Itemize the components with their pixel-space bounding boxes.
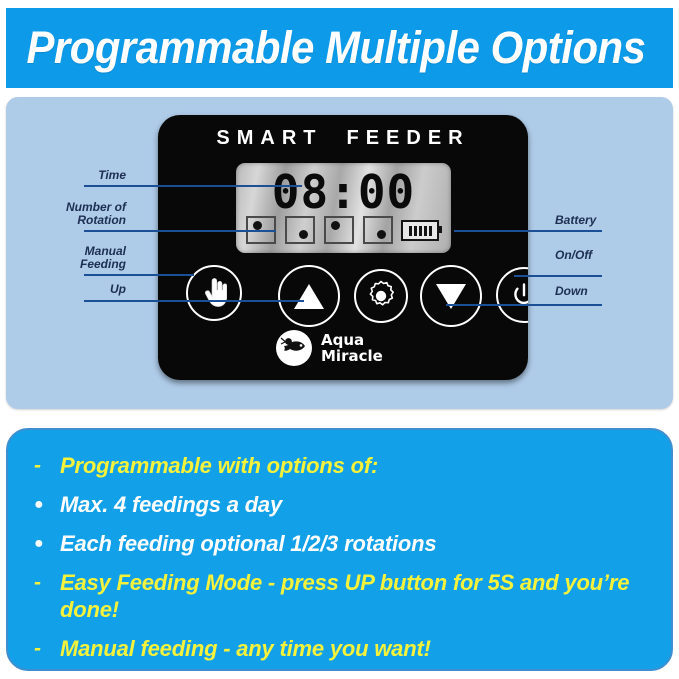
callout-label-up: Up (46, 283, 126, 296)
product-name-word-feeder: FEEDER (346, 127, 469, 149)
feature-text: Easy Feeding Mode - press UP button for … (60, 569, 645, 623)
callout-label-down: Down (555, 285, 655, 298)
callout-label-onoff: On/Off (555, 249, 655, 262)
battery-bar (424, 226, 427, 236)
header-banner: Programmable Multiple Options (6, 8, 673, 88)
feature-item: - Easy Feeding Mode - press UP button fo… (34, 569, 645, 623)
brand-name: Aqua Miracle (321, 332, 383, 364)
leader-line-battery (454, 230, 602, 232)
feature-marker: ● (34, 530, 60, 557)
feature-marker: - (34, 452, 60, 479)
device-diagram-panel: SMARTFEEDER 08:00 (6, 97, 673, 409)
feeder-device-body: SMARTFEEDER 08:00 (158, 115, 528, 380)
leader-line-down (446, 304, 602, 306)
rotation-dot-icon (253, 221, 262, 230)
feature-marker: - (34, 569, 60, 596)
feeder-product-name: SMARTFEEDER (158, 127, 528, 150)
callout-label-time: Time (46, 169, 126, 182)
rotation-dot-icon (377, 230, 386, 239)
feature-item: - Programmable with options of: (34, 452, 645, 479)
leader-line-time (84, 185, 302, 187)
brand-name-line2: Miracle (321, 348, 383, 364)
hand-pointer-icon (201, 278, 227, 308)
product-name-word-smart: SMART (216, 127, 322, 149)
up-button[interactable] (278, 265, 340, 327)
rotation-box-2 (285, 216, 315, 244)
rotation-dot-icon (331, 221, 340, 230)
fish-glyph-icon (279, 335, 309, 361)
brand-logo: Aqua Miracle (276, 330, 383, 366)
rotation-dot-icon (299, 230, 308, 239)
feature-text: Each feeding optional 1/2/3 rotations (60, 530, 436, 557)
feature-text: Programmable with options of: (60, 452, 378, 479)
battery-bar (414, 226, 417, 236)
page-title: Programmable Multiple Options (6, 22, 645, 74)
control-button-row (158, 265, 528, 327)
battery-icon (401, 220, 439, 241)
settings-button[interactable] (354, 269, 408, 323)
leader-line-manual (84, 274, 194, 276)
features-panel: - Programmable with options of: ● Max. 4… (6, 428, 673, 671)
callout-label-rotation-line2: Rotation (26, 214, 126, 227)
leader-line-up (84, 300, 304, 302)
lcd-display: 08:00 (236, 163, 451, 253)
battery-bar (409, 226, 412, 236)
triangle-up-icon (294, 284, 324, 309)
feature-item: - Manual feeding - any time you want! (34, 635, 645, 662)
feature-text: Max. 4 feedings a day (60, 491, 282, 518)
feature-marker: ● (34, 491, 60, 518)
feature-marker: - (34, 635, 60, 662)
gear-icon (364, 279, 398, 313)
infographic-page: Programmable Multiple Options SMARTFEEDE… (0, 0, 679, 679)
rotation-box-3 (324, 216, 354, 244)
leader-line-onoff (514, 275, 602, 277)
fish-icon (276, 330, 312, 366)
leader-line-rotation (84, 230, 276, 232)
feature-item: ● Max. 4 feedings a day (34, 491, 645, 518)
manual-feeding-button[interactable] (186, 265, 242, 321)
down-button[interactable] (420, 265, 482, 327)
rotation-box-4 (363, 216, 393, 244)
feature-text: Manual feeding - any time you want! (60, 635, 431, 662)
brand-name-line1: Aqua (321, 332, 383, 348)
feature-item: ● Each feeding optional 1/2/3 rotations (34, 530, 645, 557)
battery-bar (419, 226, 422, 236)
lcd-time-value: 08:00 (236, 167, 451, 217)
callout-label-battery: Battery (555, 214, 655, 227)
callout-label-manual-line2: Feeding (26, 258, 126, 271)
battery-bar (429, 226, 432, 236)
